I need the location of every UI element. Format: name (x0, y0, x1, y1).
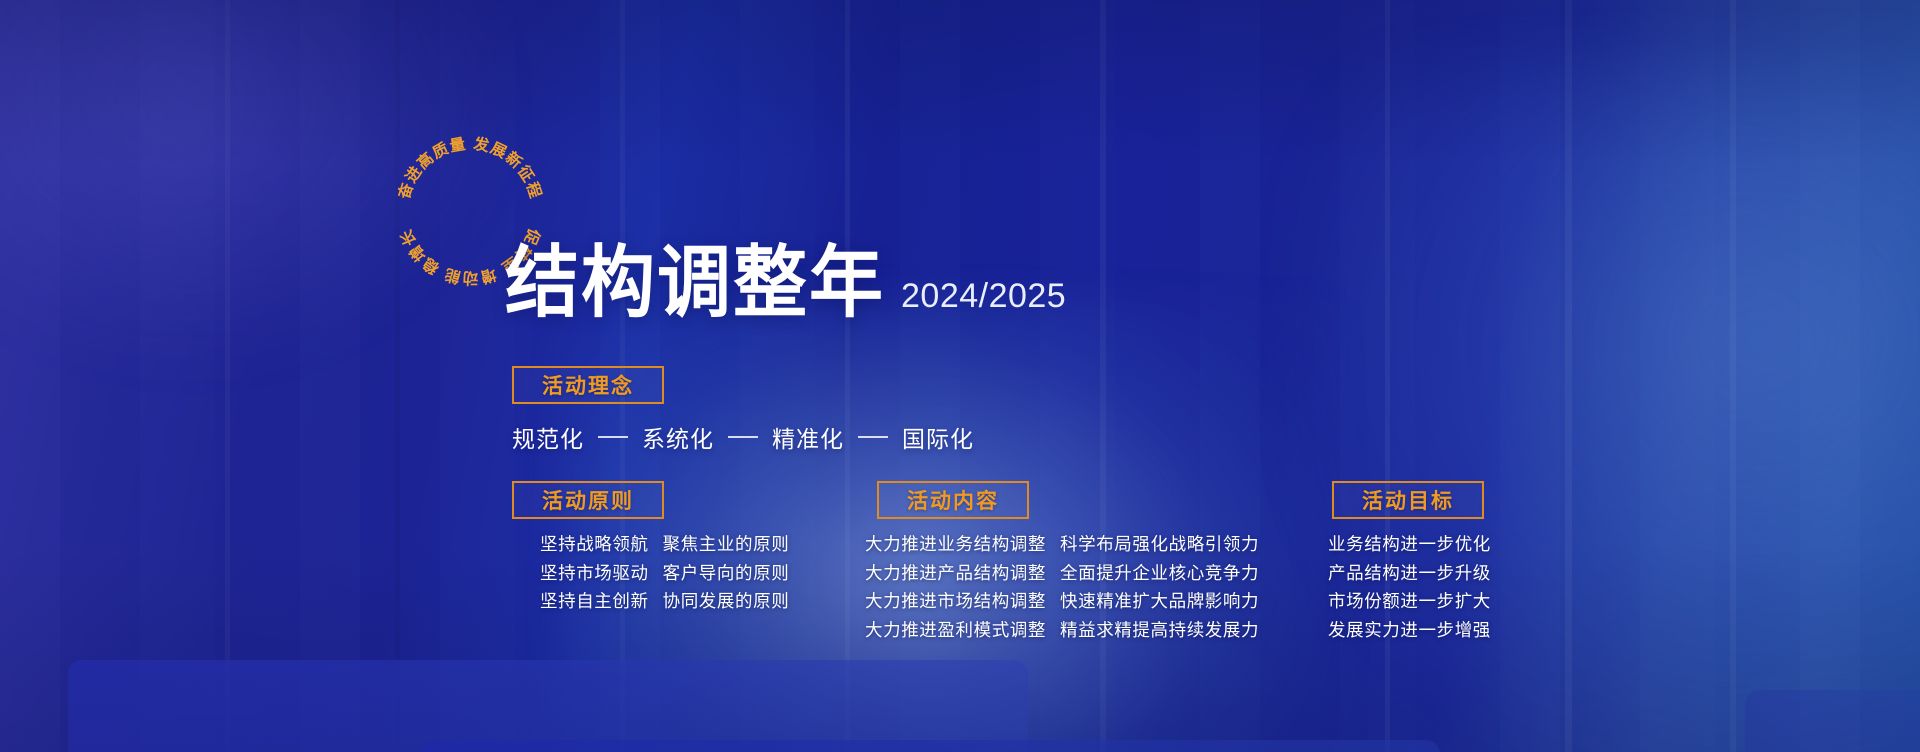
list-item: 业务结构进一步优化 (1328, 536, 1491, 554)
row-left: 业务结构进一步优化 (1328, 536, 1491, 554)
row-left: 大力推进市场结构调整 (865, 593, 1046, 611)
concept-item: 系统化 (642, 420, 714, 454)
row-left: 产品结构进一步升级 (1328, 565, 1491, 583)
row-left: 市场份额进一步扩大 (1328, 593, 1491, 611)
list-item: 坚持战略领航 聚焦主业的原则 (540, 536, 789, 554)
badge-activity-concept[interactable]: 活动理念 (512, 366, 664, 404)
concept-item-list: 规范化 系统化 精准化 国际化 (512, 420, 974, 454)
row-left: 坚持战略领航 (540, 536, 649, 554)
dash-separator-icon (598, 436, 628, 438)
list-item: 发展实力进一步增强 (1328, 622, 1491, 640)
list-item: 坚持市场驱动 客户导向的原则 (540, 565, 789, 583)
badge-activity-content[interactable]: 活动内容 (877, 481, 1029, 519)
badge-activity-goal[interactable]: 活动目标 (1332, 481, 1484, 519)
column-principle: 坚持战略领航 聚焦主业的原则 坚持市场驱动 客户导向的原则 坚持自主创新 协同发… (540, 536, 789, 622)
badge-activity-principle[interactable]: 活动原则 (512, 481, 664, 519)
row-left: 发展实力进一步增强 (1328, 622, 1491, 640)
concept-item: 精准化 (772, 420, 844, 454)
list-item: 坚持自主创新 协同发展的原则 (540, 593, 789, 611)
concept-item: 规范化 (512, 420, 584, 454)
column-content: 大力推进业务结构调整 科学布局强化战略引领力 大力推进产品结构调整 全面提升企业… (865, 536, 1259, 650)
row-left: 大力推进业务结构调整 (865, 536, 1046, 554)
row-left: 坚持市场驱动 (540, 565, 649, 583)
title-row: 结构调整年 2024/2025 (505, 248, 1066, 322)
list-item: 大力推进产品结构调整 全面提升企业核心竞争力 (865, 565, 1259, 583)
column-goal: 业务结构进一步优化 产品结构进一步升级 市场份额进一步扩大 发展实力进一步增强 (1328, 536, 1491, 650)
list-item: 市场份额进一步扩大 (1328, 593, 1491, 611)
list-item: 大力推进业务结构调整 科学布局强化战略引领力 (865, 536, 1259, 554)
concept-item: 国际化 (902, 420, 974, 454)
list-item: 大力推进市场结构调整 快速精准扩大品牌影响力 (865, 593, 1259, 611)
row-left: 大力推进盈利模式调整 (865, 622, 1046, 640)
row-right: 全面提升企业核心竞争力 (1060, 565, 1259, 583)
row-right: 协同发展的原则 (663, 593, 790, 611)
row-right: 精益求精提高持续发展力 (1060, 622, 1259, 640)
row-left: 坚持自主创新 (540, 593, 649, 611)
list-item: 大力推进盈利模式调整 精益求精提高持续发展力 (865, 622, 1259, 640)
row-right: 科学布局强化战略引领力 (1060, 536, 1259, 554)
page-title: 结构调整年 (505, 244, 885, 322)
promotional-banner: 奋进高质量 发展新征程 促转型 增动能 稳增长 结构调整年 2024/2025 … (0, 0, 1920, 752)
dash-separator-icon (728, 436, 758, 438)
list-item: 产品结构进一步升级 (1328, 565, 1491, 583)
row-right: 客户导向的原则 (663, 565, 790, 583)
year-label: 2024/2025 (901, 277, 1066, 322)
row-right: 聚焦主业的原则 (663, 536, 790, 554)
dash-separator-icon (858, 436, 888, 438)
row-left: 大力推进产品结构调整 (865, 565, 1046, 583)
row-right: 快速精准扩大品牌影响力 (1060, 593, 1259, 611)
